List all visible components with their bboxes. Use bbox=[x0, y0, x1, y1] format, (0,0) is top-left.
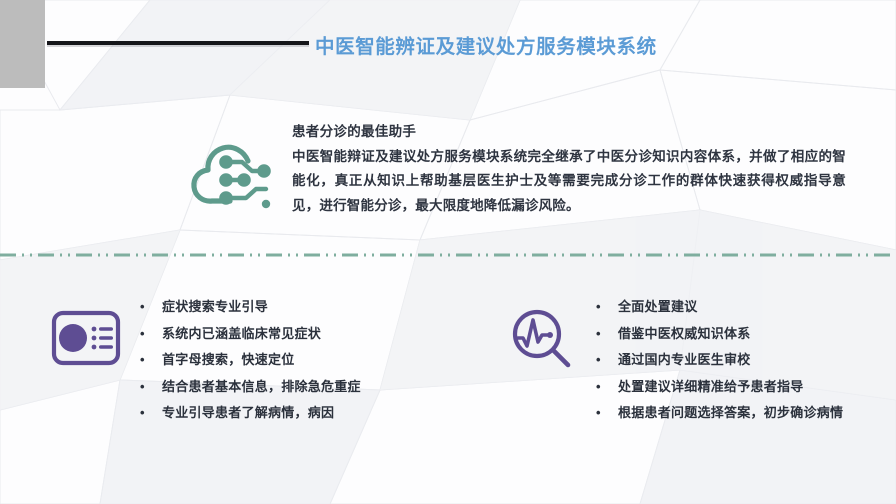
bullet-glyph: • bbox=[140, 353, 162, 366]
card-list-chart-icon bbox=[50, 308, 122, 370]
background-texture bbox=[0, 0, 896, 504]
list-item-label: 症状搜索专业引导 bbox=[162, 300, 268, 313]
feature-bullets-right: • 全面处置建议 • 借鉴中医权威知识体系 • 通过国内专业医生审校 • 处置建… bbox=[596, 300, 843, 419]
list-item: • 首字母搜索，快速定位 bbox=[140, 353, 361, 366]
bullet-glyph: • bbox=[140, 300, 162, 313]
intro-text-block: 患者分诊的最佳助手 中医智能辩证及建议处方服务模块系统完全继承了中医分诊知识内容… bbox=[292, 122, 846, 219]
intro-body: 中医智能辩证及建议处方服务模块系统完全继承了中医分诊知识内容体系，并做了相应的智… bbox=[292, 145, 846, 219]
list-item-label: 首字母搜索，快速定位 bbox=[162, 353, 295, 366]
list-item: • 借鉴中医权威知识体系 bbox=[596, 327, 843, 340]
list-item-label: 全面处置建议 bbox=[618, 300, 698, 313]
list-item-label: 借鉴中医权威知识体系 bbox=[618, 327, 751, 340]
list-item-label: 处置建议详细精准给予患者指导 bbox=[618, 380, 804, 393]
bullet-glyph: • bbox=[596, 327, 618, 340]
list-item-label: 通过国内专业医生审校 bbox=[618, 353, 751, 366]
bullet-glyph: • bbox=[140, 327, 162, 340]
bullet-glyph: • bbox=[140, 380, 162, 393]
feature-bullets-left: • 症状搜索专业引导 • 系统内已涵盖临床常见症状 • 首字母搜索，快速定位 •… bbox=[140, 300, 361, 419]
corner-grey-block bbox=[0, 0, 45, 88]
list-item: • 根据患者问题选择答案，初步确诊病情 bbox=[596, 406, 843, 419]
intro-section: 患者分诊的最佳助手 中医智能辩证及建议处方服务模块系统完全继承了中医分诊知识内容… bbox=[186, 122, 846, 219]
list-item-label: 结合患者基本信息，排除急危重症 bbox=[162, 380, 361, 393]
list-item: • 通过国内专业医生审校 bbox=[596, 353, 843, 366]
list-item: • 专业引导患者了解病情，病因 bbox=[140, 406, 361, 419]
bullet-glyph: • bbox=[596, 380, 618, 393]
list-item-label: 专业引导患者了解病情，病因 bbox=[162, 406, 334, 419]
list-item-label: 根据患者问题选择答案，初步确诊病情 bbox=[618, 406, 843, 419]
slide-root: 中医智能辨证及建议处方服务模块系统 患者分诊的最佳助手 中医智能辩证及建议处方服… bbox=[0, 0, 896, 504]
pulse-magnifier-icon bbox=[506, 308, 578, 370]
intro-heading: 患者分诊的最佳助手 bbox=[292, 122, 846, 143]
list-item: • 症状搜索专业引导 bbox=[140, 300, 361, 313]
feature-columns: • 症状搜索专业引导 • 系统内已涵盖临床常见症状 • 首字母搜索，快速定位 •… bbox=[0, 300, 896, 419]
feature-column-right: • 全面处置建议 • 借鉴中医权威知识体系 • 通过国内专业医生审校 • 处置建… bbox=[498, 300, 896, 419]
cloud-network-icon bbox=[186, 140, 274, 218]
feature-column-left: • 症状搜索专业引导 • 系统内已涵盖临床常见症状 • 首字母搜索，快速定位 •… bbox=[0, 300, 498, 419]
bullet-glyph: • bbox=[596, 353, 618, 366]
bullet-glyph: • bbox=[596, 300, 618, 313]
list-item: • 处置建议详细精准给予患者指导 bbox=[596, 380, 843, 393]
list-item-label: 系统内已涵盖临床常见症状 bbox=[162, 327, 321, 340]
page-title: 中医智能辨证及建议处方服务模块系统 bbox=[315, 30, 657, 59]
bullet-glyph: • bbox=[596, 406, 618, 419]
list-item: • 结合患者基本信息，排除急危重症 bbox=[140, 380, 361, 393]
title-rule bbox=[47, 41, 309, 45]
bullet-glyph: • bbox=[140, 406, 162, 419]
section-divider bbox=[0, 253, 896, 257]
list-item: • 系统内已涵盖临床常见症状 bbox=[140, 327, 361, 340]
list-item: • 全面处置建议 bbox=[596, 300, 843, 313]
